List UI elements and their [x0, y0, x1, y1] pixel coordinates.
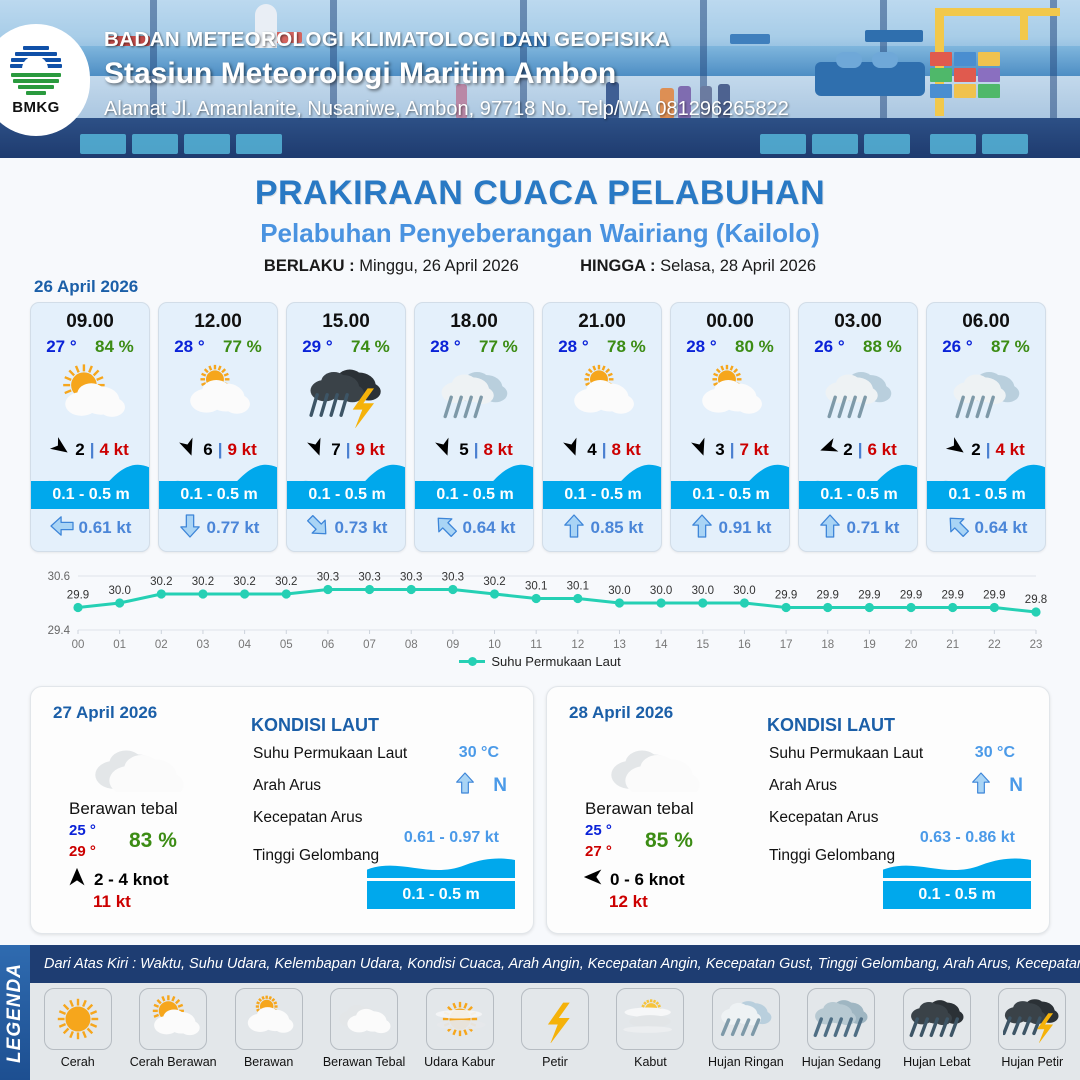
current-direction-arrow-icon	[455, 771, 475, 800]
card-wave-height: 0.1 - 0.5 m	[927, 481, 1046, 509]
card-wave-height: 0.1 - 0.5 m	[159, 481, 278, 509]
card-wave-zone: 0.1 - 0.5 m0.71 kt	[799, 459, 918, 551]
docked-vessel	[836, 52, 862, 68]
card-current-speed: 0.77 kt	[207, 518, 260, 538]
card-time: 00.00	[671, 303, 789, 333]
card-time: 18.00	[415, 303, 533, 333]
cerah-icon	[44, 988, 112, 1050]
svg-text:22: 22	[988, 639, 1001, 651]
current-speed-value: 0.61 - 0.97 kt	[404, 829, 499, 847]
page-title: PRAKIRAAN CUACA PELABUHAN	[0, 174, 1080, 213]
panel-humidity: 85 %	[645, 829, 693, 853]
card-current-row: 0.85 kt	[543, 513, 662, 543]
svg-text:30.3: 30.3	[317, 572, 339, 584]
wave-shape-icon	[883, 856, 1031, 883]
svg-text:30.2: 30.2	[233, 576, 255, 588]
legend-side-tab: LEGENDA	[0, 945, 30, 1080]
wind-separator: |	[90, 440, 95, 460]
card-time: 09.00	[31, 303, 149, 333]
shipping-container	[930, 84, 952, 98]
wind-separator: |	[218, 440, 223, 460]
current-direction-arrow-icon	[691, 514, 713, 543]
terminal-seat	[760, 134, 806, 154]
hourly-card: 15.0029 °74 %7|9 kt0.1 - 0.5 m0.73 kt	[286, 302, 406, 552]
card-current-row: 0.73 kt	[287, 513, 406, 543]
card-temperature: 26 °	[942, 337, 972, 357]
panel-gust: 12 kt	[609, 892, 648, 912]
legend-side-label: LEGENDA	[4, 963, 26, 1063]
svg-text:30.2: 30.2	[150, 576, 172, 588]
card-wind-speed: 4	[587, 440, 596, 460]
agency-name: BADAN METEOROLOGI KLIMATOLOGI DAN GEOFIS…	[104, 28, 789, 52]
svg-text:09: 09	[446, 639, 459, 651]
card-gust-speed: 9 kt	[227, 440, 256, 460]
panel-temp-max: 27 °	[585, 843, 612, 860]
header-text-block: BADAN METEOROLOGI KLIMATOLOGI DAN GEOFIS…	[104, 28, 789, 121]
legend-item: Berawan	[221, 988, 316, 1069]
svg-text:03: 03	[197, 639, 210, 651]
hourly-card: 00.0028 °80 %3|7 kt0.1 - 0.5 m0.91 kt	[670, 302, 790, 552]
card-current-speed: 0.64 kt	[975, 518, 1028, 538]
svg-text:04: 04	[238, 639, 251, 651]
legend-item: Hujan Petir	[985, 988, 1080, 1069]
terminal-seat	[80, 134, 126, 154]
panel-condition: Berawan tebal	[585, 799, 694, 819]
svg-text:18: 18	[821, 639, 834, 651]
card-time: 21.00	[543, 303, 661, 333]
crane-icon	[935, 8, 1060, 16]
wind-separator: |	[474, 440, 479, 460]
shipping-container	[930, 52, 952, 66]
legend-item-label: Berawan	[244, 1055, 293, 1069]
svg-text:15: 15	[696, 639, 709, 651]
chart-legend: Suhu Permukaan Laut	[30, 654, 1050, 669]
card-temperature: 29 °	[302, 337, 332, 357]
card-current-speed: 0.85 kt	[591, 518, 644, 538]
card-current-row: 0.71 kt	[799, 513, 918, 543]
forecast-title-block: PRAKIRAAN CUACA PELABUHAN Pelabuhan Peny…	[0, 158, 1080, 276]
svg-text:30.0: 30.0	[650, 585, 672, 597]
shipping-container	[954, 52, 976, 66]
hourly-forecast-row: 09.0027 °84 %2|4 kt0.1 - 0.5 m0.61 kt12.…	[30, 302, 1050, 552]
shipping-container	[978, 84, 1000, 98]
card-wave-zone: 0.1 - 0.5 m0.64 kt	[927, 459, 1046, 551]
card-wave-zone: 0.1 - 0.5 m0.85 kt	[543, 459, 662, 551]
card-current-row: 0.64 kt	[927, 513, 1046, 543]
shipping-container	[954, 84, 976, 98]
terminal-seat	[812, 134, 858, 154]
panel-temp-min: 25 °	[69, 822, 96, 839]
svg-text:14: 14	[655, 639, 668, 651]
legend-item: Hujan Ringan	[698, 988, 793, 1069]
terminal-seat	[930, 134, 976, 154]
daily-forecast-panels: 27 April 2026Berawan tebal25 °29 °83 %2 …	[30, 686, 1050, 934]
current-direction-arrow-icon	[179, 514, 201, 543]
card-temp-humidity-row: 28 °80 %	[671, 333, 789, 357]
sst-chart-svg: 30.629.400010203040506070809101112131415…	[30, 560, 1050, 660]
card-time: 15.00	[287, 303, 405, 333]
legend-item: Udara Kabur	[412, 988, 507, 1069]
card-wave-height: 0.1 - 0.5 m	[543, 481, 662, 509]
wind-direction-arrow-icon	[67, 867, 87, 892]
berawan-tebal-icon	[599, 735, 709, 795]
hourly-card: 21.0028 °78 %4|8 kt0.1 - 0.5 m0.85 kt	[542, 302, 662, 552]
svg-text:00: 00	[72, 639, 85, 651]
card-humidity: 78 %	[607, 337, 646, 357]
panel-wave-box: 0.1 - 0.5 m	[367, 865, 515, 909]
berawan-icon	[543, 357, 661, 435]
panel-wave-value: 0.1 - 0.5 m	[367, 881, 515, 909]
card-gust-speed: 7 kt	[739, 440, 768, 460]
card-temp-humidity-row: 26 °87 %	[927, 333, 1045, 357]
current-direction-arrow-icon	[563, 514, 585, 543]
card-gust-speed: 4 kt	[99, 440, 128, 460]
current-direction-label: Arah Arus	[769, 777, 837, 795]
sst-chart: 30.629.400010203040506070809101112131415…	[30, 560, 1050, 672]
card-humidity: 80 %	[735, 337, 774, 357]
hujan-lebat-icon	[903, 988, 971, 1050]
card-humidity: 87 %	[991, 337, 1030, 357]
page-header: BMKG BADAN METEOROLOGI KLIMATOLOGI DAN G…	[0, 0, 1080, 158]
legend-item: Cerah Berawan	[125, 988, 220, 1069]
panel-gust: 11 kt	[93, 892, 131, 912]
svg-text:17: 17	[780, 639, 793, 651]
svg-text:10: 10	[488, 639, 501, 651]
card-temp-humidity-row: 26 °88 %	[799, 333, 917, 357]
panel-temp-max: 29 °	[69, 843, 96, 860]
legend-section: LEGENDA Dari Atas Kiri : Waktu, Suhu Uda…	[0, 945, 1080, 1080]
current-speed-value: 0.63 - 0.86 kt	[920, 829, 1015, 847]
legend-item-label: Petir	[542, 1055, 568, 1069]
card-humidity: 84 %	[95, 337, 134, 357]
card-wind-speed: 2	[843, 440, 852, 460]
card-wave-zone: 0.1 - 0.5 m0.91 kt	[671, 459, 790, 551]
svg-text:30.1: 30.1	[567, 581, 589, 593]
panel-wind-range: 0 - 6 knot	[610, 870, 685, 890]
card-humidity: 77 %	[223, 337, 262, 357]
sea-condition-title: KONDISI LAUT	[767, 715, 895, 736]
card-current-speed: 0.91 kt	[719, 518, 772, 538]
panel-humidity: 83 %	[129, 829, 177, 853]
card-temp-humidity-row: 29 °74 %	[287, 333, 405, 357]
card-humidity: 88 %	[863, 337, 902, 357]
current-speed-label: Kecepatan Arus	[253, 809, 362, 827]
card-current-speed: 0.64 kt	[463, 518, 516, 538]
card-time: 06.00	[927, 303, 1045, 333]
card-temp-humidity-row: 28 °77 %	[159, 333, 277, 357]
daily-panel: 27 April 2026Berawan tebal25 °29 °83 %2 …	[30, 686, 534, 934]
current-direction-value: N	[1009, 775, 1023, 797]
terminal-seat	[982, 134, 1028, 154]
legend-item-label: Hujan Sedang	[802, 1055, 881, 1069]
terminal-seat	[184, 134, 230, 154]
crane-icon	[1020, 14, 1028, 40]
legend-item: Hujan Lebat	[889, 988, 984, 1069]
svg-text:30.2: 30.2	[275, 576, 297, 588]
hujan-ringan-icon	[415, 357, 533, 435]
shipping-container	[978, 68, 1000, 82]
svg-text:29.9: 29.9	[983, 590, 1005, 602]
panel-condition: Berawan tebal	[69, 799, 178, 819]
hujan-ringan-icon	[799, 357, 917, 435]
svg-text:29.9: 29.9	[900, 590, 922, 602]
svg-text:01: 01	[113, 639, 126, 651]
svg-text:29.9: 29.9	[817, 590, 839, 602]
current-direction-value: N	[493, 775, 507, 797]
svg-text:20: 20	[905, 639, 918, 651]
panel-wind-row: 0 - 6 knot	[583, 867, 685, 892]
card-current-row: 0.61 kt	[31, 513, 150, 543]
legend-item-label: Cerah Berawan	[130, 1055, 217, 1069]
sst-value: 30 °C	[459, 744, 499, 762]
wave-shape-icon	[367, 856, 515, 883]
window-mullion	[1050, 0, 1057, 120]
card-temp-humidity-row: 27 °84 %	[31, 333, 149, 357]
legend-item-label: Hujan Petir	[1001, 1055, 1063, 1069]
card-current-speed: 0.71 kt	[847, 518, 900, 538]
svg-text:30.6: 30.6	[48, 571, 70, 583]
bmkg-emblem-icon	[8, 44, 64, 96]
card-humidity: 74 %	[351, 337, 390, 357]
shipping-container	[930, 68, 952, 82]
svg-text:08: 08	[405, 639, 418, 651]
card-time: 12.00	[159, 303, 277, 333]
panel-wave-box: 0.1 - 0.5 m	[883, 865, 1031, 909]
legend-item: Hujan Sedang	[794, 988, 889, 1069]
svg-text:05: 05	[280, 639, 293, 651]
shipping-container	[954, 68, 976, 82]
svg-text:21: 21	[946, 639, 959, 651]
card-wave-height: 0.1 - 0.5 m	[671, 481, 790, 509]
hourly-card: 09.0027 °84 %2|4 kt0.1 - 0.5 m0.61 kt	[30, 302, 150, 552]
legend-item-label: Udara Kabur	[424, 1055, 495, 1069]
hujan-ringan-icon	[712, 988, 780, 1050]
valid-until-label: HINGGA :	[580, 257, 655, 275]
card-wind-speed: 3	[715, 440, 724, 460]
shipping-container	[978, 52, 1000, 66]
card-wind-speed: 2	[75, 440, 84, 460]
hujan-petir-icon	[998, 988, 1066, 1050]
hujan-ringan-icon	[927, 357, 1045, 435]
legend-item: Berawan Tebal	[316, 988, 411, 1069]
panel-date: 28 April 2026	[569, 703, 673, 723]
current-direction-arrow-icon	[307, 514, 329, 543]
svg-text:30.3: 30.3	[442, 572, 464, 584]
card-wave-zone: 0.1 - 0.5 m0.64 kt	[415, 459, 534, 551]
svg-text:19: 19	[863, 639, 876, 651]
wind-separator: |	[730, 440, 735, 460]
panel-wind-row: 2 - 4 knot	[67, 867, 169, 892]
card-wave-height: 0.1 - 0.5 m	[415, 481, 534, 509]
svg-text:30.2: 30.2	[483, 576, 505, 588]
current-direction-arrow-icon	[971, 771, 991, 800]
terminal-seat	[864, 134, 910, 154]
svg-text:29.9: 29.9	[67, 590, 89, 602]
card-temp-humidity-row: 28 °78 %	[543, 333, 661, 357]
legend-item: Petir	[507, 988, 602, 1069]
legend-note-strip: Dari Atas Kiri : Waktu, Suhu Udara, Kele…	[30, 945, 1080, 983]
hujan-petir-icon	[287, 357, 405, 435]
legend-label: Suhu Permukaan Laut	[491, 654, 620, 669]
svg-text:13: 13	[613, 639, 626, 651]
card-wave-height: 0.1 - 0.5 m	[287, 481, 406, 509]
card-current-row: 0.91 kt	[671, 513, 790, 543]
petir-icon	[521, 988, 589, 1050]
legend-item: Kabut	[603, 988, 698, 1069]
ship-silhouette	[865, 30, 923, 42]
berawan-icon	[159, 357, 277, 435]
card-wave-zone: 0.1 - 0.5 m0.61 kt	[31, 459, 150, 551]
card-gust-speed: 4 kt	[995, 440, 1024, 460]
docked-vessel	[815, 62, 925, 96]
card-wind-speed: 6	[203, 440, 212, 460]
svg-text:30.0: 30.0	[108, 585, 130, 597]
wind-direction-arrow-icon	[583, 867, 603, 892]
cerah-berawan-icon	[139, 988, 207, 1050]
card-wind-speed: 7	[331, 440, 340, 460]
svg-text:06: 06	[322, 639, 335, 651]
valid-until-value: Selasa, 28 April 2026	[660, 257, 816, 275]
legend-item-label: Hujan Ringan	[708, 1055, 784, 1069]
card-temperature: 28 °	[686, 337, 716, 357]
legend-item: Cerah	[30, 988, 125, 1069]
card-gust-speed: 9 kt	[355, 440, 384, 460]
panel-date: 27 April 2026	[53, 703, 157, 723]
wind-separator: |	[602, 440, 607, 460]
svg-text:11: 11	[530, 639, 542, 651]
card-gust-speed: 8 kt	[611, 440, 640, 460]
hourly-card: 06.0026 °87 %2|4 kt0.1 - 0.5 m0.64 kt	[926, 302, 1046, 552]
station-address: Alamat Jl. Amanlanite, Nusaniwe, Ambon, …	[104, 98, 789, 121]
kabut-icon	[616, 988, 684, 1050]
wind-separator: |	[858, 440, 863, 460]
card-wave-zone: 0.1 - 0.5 m0.73 kt	[287, 459, 406, 551]
hujan-sedang-icon	[807, 988, 875, 1050]
legend-icon-row: CerahCerah BerawanBerawanBerawan TebalUd…	[30, 983, 1080, 1080]
card-current-speed: 0.73 kt	[335, 518, 388, 538]
svg-text:30.0: 30.0	[733, 585, 755, 597]
docked-vessel	[872, 52, 898, 68]
svg-text:29.8: 29.8	[1025, 594, 1047, 606]
berawan-icon	[671, 357, 789, 435]
berawan-tebal-icon	[330, 988, 398, 1050]
berawan-icon	[235, 988, 303, 1050]
legend-item-label: Kabut	[634, 1055, 667, 1069]
legend-item-label: Berawan Tebal	[323, 1055, 405, 1069]
panel-temp-min: 25 °	[585, 822, 612, 839]
validity-line: BERLAKU : Minggu, 26 April 2026 HINGGA :…	[0, 257, 1080, 276]
cerah-berawan-icon	[31, 357, 149, 435]
svg-text:16: 16	[738, 639, 751, 651]
card-wave-height: 0.1 - 0.5 m	[799, 481, 918, 509]
hourly-card: 03.0026 °88 %2|6 kt0.1 - 0.5 m0.71 kt	[798, 302, 918, 552]
current-speed-label: Kecepatan Arus	[769, 809, 878, 827]
wind-separator: |	[986, 440, 991, 460]
current-direction-arrow-icon	[947, 514, 969, 543]
svg-text:02: 02	[155, 639, 168, 651]
sst-label: Suhu Permukaan Laut	[769, 745, 923, 763]
sea-condition-title: KONDISI LAUT	[251, 715, 379, 736]
sst-value: 30 °C	[975, 744, 1015, 762]
current-direction-arrow-icon	[51, 514, 73, 543]
card-time: 03.00	[799, 303, 917, 333]
svg-text:12: 12	[571, 639, 584, 651]
card-wave-height: 0.1 - 0.5 m	[31, 481, 150, 509]
svg-text:29.9: 29.9	[775, 590, 797, 602]
svg-text:30.2: 30.2	[192, 576, 214, 588]
valid-from-value: Minggu, 26 April 2026	[359, 257, 519, 275]
terminal-seat	[132, 134, 178, 154]
legend-marker-icon	[459, 660, 485, 663]
card-gust-speed: 6 kt	[867, 440, 896, 460]
card-temperature: 27 °	[46, 337, 76, 357]
panel-wind-range: 2 - 4 knot	[94, 870, 169, 890]
svg-text:30.1: 30.1	[525, 581, 547, 593]
card-temperature: 28 °	[558, 337, 588, 357]
card-gust-speed: 8 kt	[483, 440, 512, 460]
wind-separator: |	[346, 440, 351, 460]
hourly-date-label: 26 April 2026	[34, 277, 138, 297]
svg-text:29.9: 29.9	[858, 590, 880, 602]
card-wave-zone: 0.1 - 0.5 m0.77 kt	[159, 459, 278, 551]
udara-kabur-icon	[426, 988, 494, 1050]
wave-height-label: Tinggi Gelombang	[253, 847, 379, 865]
legend-item-label: Hujan Lebat	[903, 1055, 970, 1069]
port-name: Pelabuhan Penyeberangan Wairiang (Kailol…	[0, 218, 1080, 249]
svg-text:29.9: 29.9	[942, 590, 964, 602]
card-temperature: 28 °	[430, 337, 460, 357]
current-direction-arrow-icon	[819, 514, 841, 543]
daily-panel: 28 April 2026Berawan tebal25 °27 °85 %0 …	[546, 686, 1050, 934]
bmkg-logo-text: BMKG	[12, 99, 59, 116]
card-current-row: 0.77 kt	[159, 513, 278, 543]
current-direction-arrow-icon	[435, 514, 457, 543]
card-humidity: 77 %	[479, 337, 518, 357]
valid-from-label: BERLAKU :	[264, 257, 355, 275]
svg-text:30.0: 30.0	[608, 585, 630, 597]
hourly-card: 12.0028 °77 %6|9 kt0.1 - 0.5 m0.77 kt	[158, 302, 278, 552]
hourly-card: 18.0028 °77 %5|8 kt0.1 - 0.5 m0.64 kt	[414, 302, 534, 552]
station-name: Stasiun Meteorologi Maritim Ambon	[104, 57, 789, 91]
svg-text:30.3: 30.3	[400, 572, 422, 584]
terminal-seat	[236, 134, 282, 154]
card-wind-speed: 5	[459, 440, 468, 460]
card-current-speed: 0.61 kt	[79, 518, 132, 538]
current-direction-label: Arah Arus	[253, 777, 321, 795]
card-temperature: 28 °	[174, 337, 204, 357]
svg-text:23: 23	[1030, 639, 1043, 651]
sst-label: Suhu Permukaan Laut	[253, 745, 407, 763]
berawan-tebal-icon	[83, 735, 193, 795]
svg-text:07: 07	[363, 639, 376, 651]
card-temperature: 26 °	[814, 337, 844, 357]
panel-wave-value: 0.1 - 0.5 m	[883, 881, 1031, 909]
legend-item-label: Cerah	[61, 1055, 95, 1069]
svg-text:29.4: 29.4	[48, 625, 71, 637]
svg-text:30.3: 30.3	[358, 572, 380, 584]
legend-note: Dari Atas Kiri : Waktu, Suhu Udara, Kele…	[30, 956, 1080, 972]
wave-height-label: Tinggi Gelombang	[769, 847, 895, 865]
card-temp-humidity-row: 28 °77 %	[415, 333, 533, 357]
card-current-row: 0.64 kt	[415, 513, 534, 543]
card-wind-speed: 2	[971, 440, 980, 460]
svg-text:30.0: 30.0	[692, 585, 714, 597]
